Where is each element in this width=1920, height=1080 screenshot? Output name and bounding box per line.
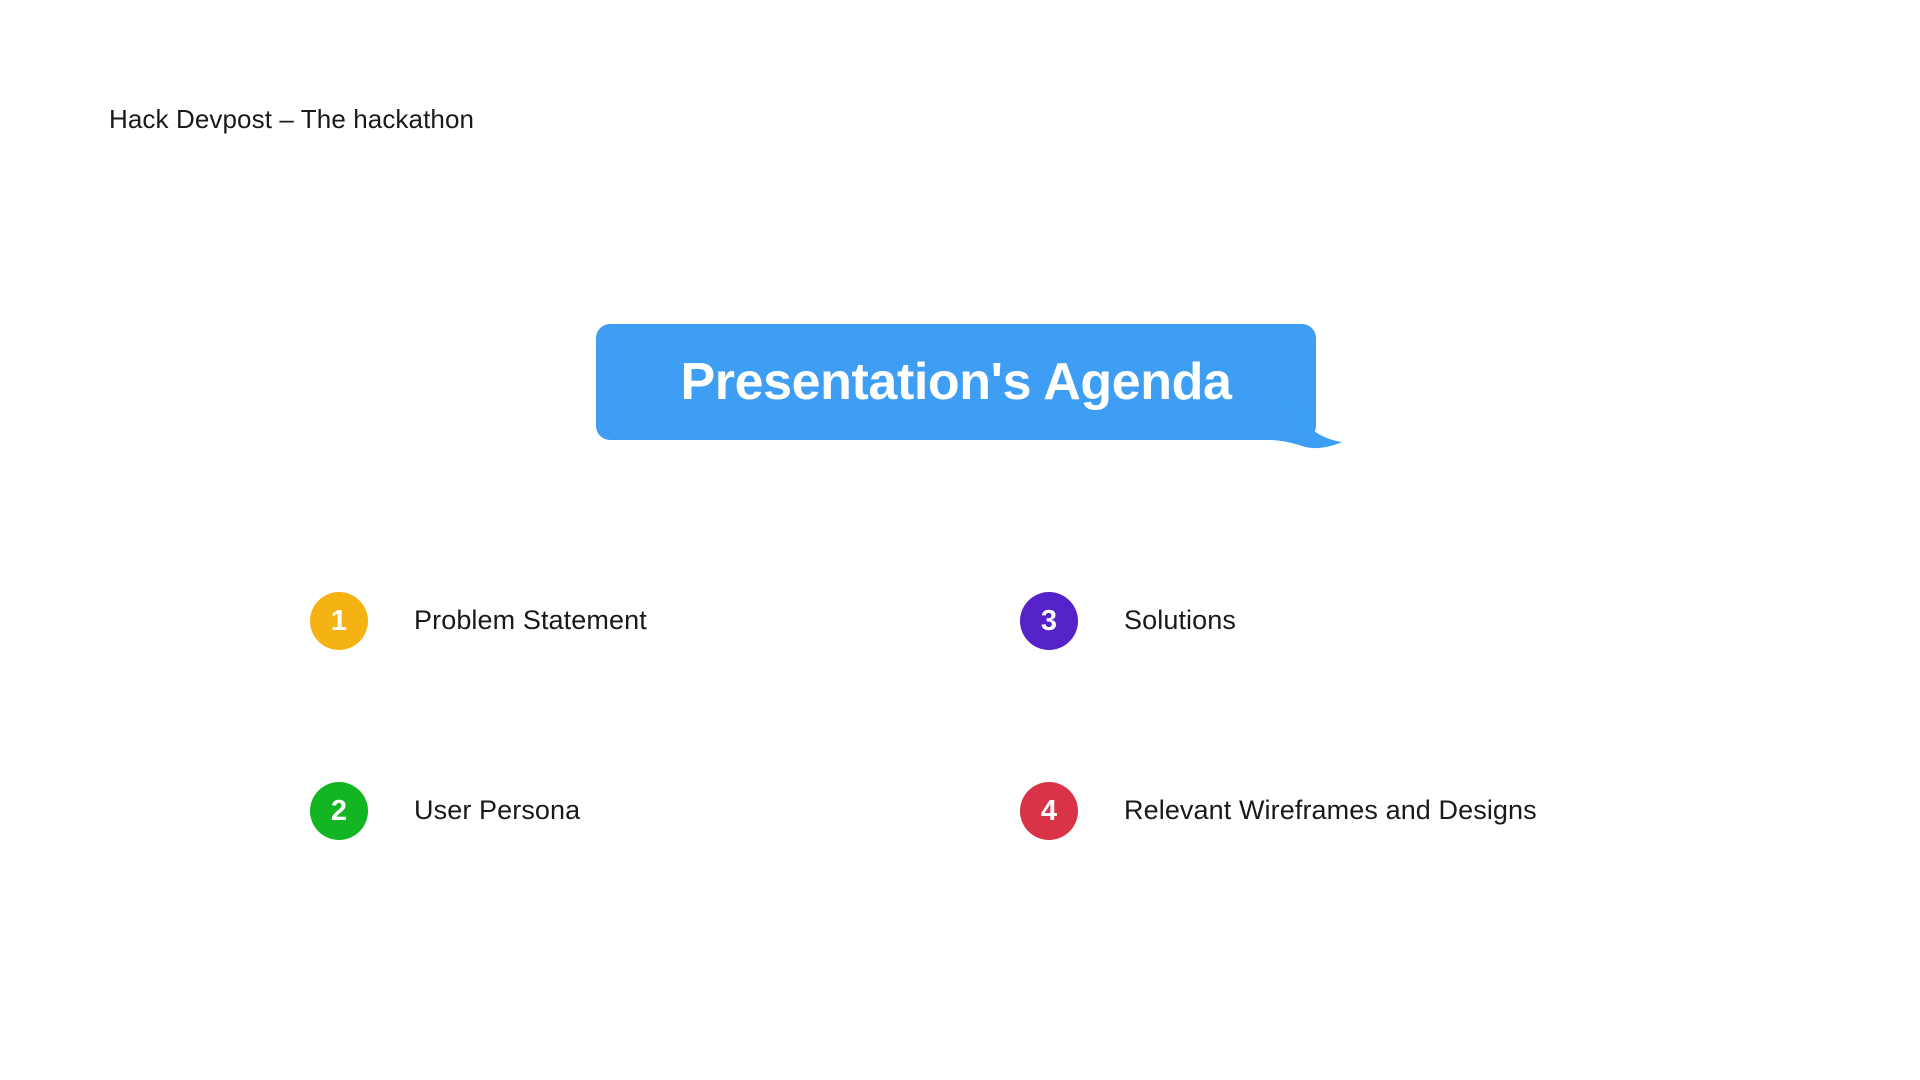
agenda-number-badge-4: 4	[1020, 782, 1078, 840]
agenda-number-badge-3: 3	[1020, 592, 1078, 650]
agenda-item-1[interactable]: 1 Problem Statement	[310, 592, 1020, 782]
agenda-item-3[interactable]: 3 Solutions	[1020, 592, 1630, 782]
agenda-list: 1 Problem Statement 3 Solutions 2 User P…	[310, 592, 1630, 972]
slide-header: Hack Devpost – The hackathon	[109, 104, 474, 135]
page-title: Presentation's Agenda	[680, 356, 1231, 408]
agenda-number-badge-1: 1	[310, 592, 368, 650]
agenda-number-4: 4	[1041, 797, 1057, 826]
agenda-label-2: User Persona	[414, 795, 580, 826]
agenda-item-4[interactable]: 4 Relevant Wireframes and Designs	[1020, 782, 1630, 972]
agenda-label-4: Relevant Wireframes and Designs	[1124, 795, 1537, 826]
title-bubble-body: Presentation's Agenda	[596, 324, 1316, 440]
title-speech-bubble: Presentation's Agenda	[596, 324, 1316, 440]
agenda-number-1: 1	[331, 607, 347, 636]
agenda-number-2: 2	[331, 797, 347, 826]
agenda-label-1: Problem Statement	[414, 605, 647, 636]
agenda-number-badge-2: 2	[310, 782, 368, 840]
agenda-item-2[interactable]: 2 User Persona	[310, 782, 1020, 972]
agenda-number-3: 3	[1041, 607, 1057, 636]
agenda-label-3: Solutions	[1124, 605, 1236, 636]
